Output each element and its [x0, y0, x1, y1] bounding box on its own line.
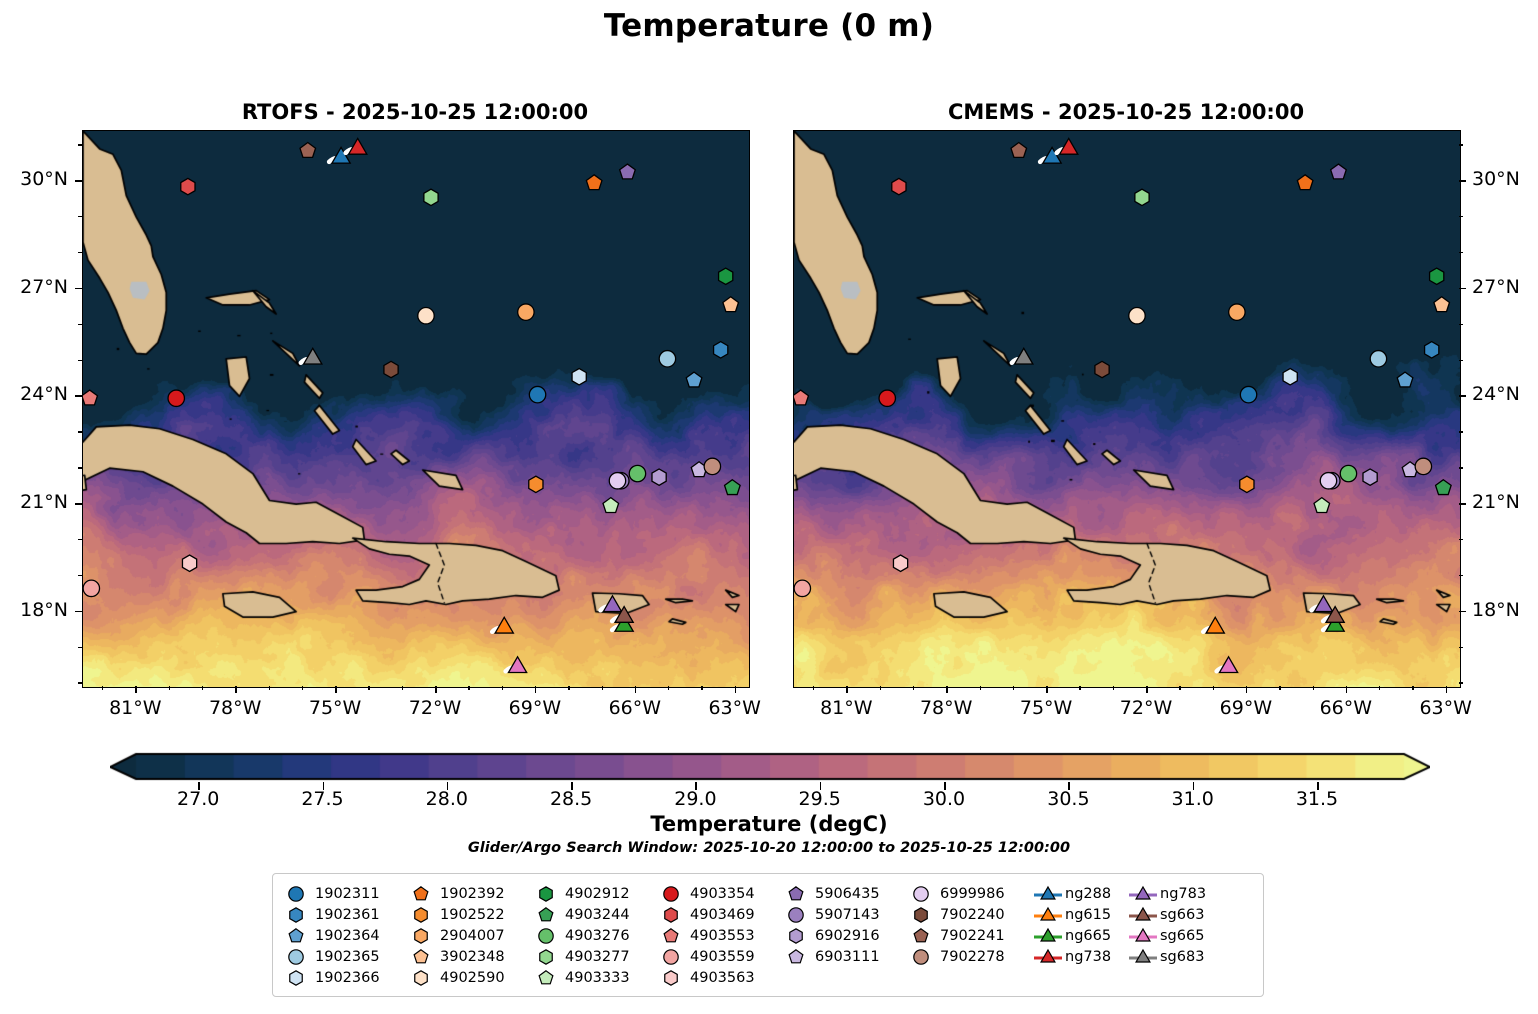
legend-entry-ng615[interactable]: ng615	[1033, 904, 1128, 925]
x-axis-tick	[1113, 686, 1114, 690]
x-axis-label: 72°W	[1106, 697, 1186, 719]
legend-entry-4902590[interactable]: 4902590	[408, 967, 533, 988]
map-marker-1902361[interactable]	[714, 342, 728, 358]
y-axis-label: 18°N	[0, 599, 68, 621]
x-axis-label: 63°W	[1406, 697, 1486, 719]
map-marker-4903333[interactable]	[603, 498, 619, 513]
x-axis-tick	[302, 686, 303, 690]
map-marker-4903244[interactable]	[725, 480, 741, 495]
colorbar-tick-label: 29.0	[650, 788, 740, 810]
map-marker-1902366[interactable]	[572, 369, 586, 385]
legend-entry-label: 4903469	[688, 907, 755, 923]
legend-entry-7902278[interactable]: 7902278	[908, 946, 1033, 967]
x-axis-tick	[813, 686, 814, 690]
legend-entry-label: 6903111	[813, 949, 880, 965]
legend-swatch	[658, 884, 688, 904]
map-marker-1902365[interactable]	[1370, 351, 1386, 367]
map-marker-4903559[interactable]	[83, 580, 99, 596]
legend-marker-6903111	[783, 947, 813, 967]
figure-root: Temperature (0 m) RTOFS - 2025-10-25 12:…	[0, 0, 1538, 1014]
x-axis-tick	[913, 686, 914, 690]
x-axis-label: 69°W	[1206, 697, 1286, 719]
legend-entry-label: 1902311	[313, 886, 380, 902]
x-axis-label: 81°W	[806, 697, 886, 719]
y-axis-tick	[78, 360, 82, 361]
x-axis-tick	[635, 686, 637, 693]
map-marker-1902365[interactable]	[659, 351, 675, 367]
legend-entry-1902522[interactable]: 1902522	[408, 904, 533, 925]
map-marker-4903276[interactable]	[629, 465, 645, 481]
map-marker-4903354[interactable]	[168, 390, 184, 406]
legend-marker-sg663	[1128, 905, 1158, 925]
map-marker-2904007[interactable]	[1229, 304, 1245, 320]
legend-swatch	[533, 926, 563, 946]
legend-swatch	[1128, 926, 1158, 946]
x-axis-tick	[1213, 686, 1214, 690]
legend-marker-sg665	[1128, 926, 1158, 946]
legend-swatch	[408, 905, 438, 925]
glider-track-ng615[interactable]	[1203, 617, 1224, 633]
x-axis-tick	[435, 686, 437, 693]
x-axis-tick	[946, 686, 948, 693]
legend-entry-3902348[interactable]: 3902348	[408, 946, 533, 967]
glider-track-sg665[interactable]	[1217, 657, 1238, 673]
x-axis-label: 78°W	[906, 697, 986, 719]
legend-entry-4903277[interactable]: 4903277	[533, 946, 658, 967]
legend-entry-label: 4903354	[688, 886, 755, 902]
legend-marker-7902240	[908, 905, 938, 925]
x-axis-tick	[668, 686, 669, 690]
x-axis-tick	[1046, 686, 1048, 693]
legend-entry-1902365[interactable]: 1902365	[283, 946, 408, 967]
legend-entry-label: 4903563	[688, 970, 755, 986]
legend-swatch	[533, 884, 563, 904]
legend-swatch	[408, 926, 438, 946]
map-marker-4903553[interactable]	[794, 390, 808, 405]
y-axis-tick	[78, 144, 82, 145]
x-axis-tick	[1313, 686, 1314, 690]
legend-swatch	[908, 905, 938, 925]
y-axis-label: 27°N	[1472, 276, 1538, 298]
x-axis-label: 66°W	[1306, 697, 1386, 719]
legend-swatch	[283, 947, 313, 967]
legend-entry-4903553[interactable]: 4903553	[658, 925, 783, 946]
legend-swatch	[658, 968, 688, 988]
map-marker-1902392[interactable]	[586, 175, 602, 190]
legend-column: 19023921902522290400739023484902590	[408, 883, 533, 988]
legend-swatch	[1033, 884, 1063, 904]
x-axis-tick	[235, 686, 237, 693]
y-axis-tick	[1459, 503, 1466, 505]
legend-entry-label: 1902365	[313, 949, 380, 965]
map-panel-rtofs[interactable]	[82, 130, 750, 688]
legend-entry-6999986[interactable]: 6999986	[908, 883, 1033, 904]
x-axis-label: 75°W	[295, 697, 375, 719]
legend-entry-4903354[interactable]: 4903354	[658, 883, 783, 904]
legend-entry-label: sg663	[1158, 907, 1204, 923]
legend-entry-1902366[interactable]: 1902366	[283, 967, 408, 988]
map-panel-cmems[interactable]	[793, 130, 1461, 688]
y-axis-tick	[1459, 144, 1463, 145]
legend-entry-4903469[interactable]: 4903469	[658, 904, 783, 925]
legend-column: 49029124903244490327649032774903333	[533, 883, 658, 988]
legend-swatch	[408, 947, 438, 967]
legend-swatch	[283, 926, 313, 946]
y-axis-label: 21°N	[0, 491, 68, 513]
x-axis-tick	[202, 686, 203, 690]
y-axis-tick	[1459, 324, 1463, 325]
map-marker-1902311[interactable]	[529, 386, 545, 402]
legend-entry-label: 1902522	[438, 907, 505, 923]
legend-entry-4903559[interactable]: 4903559	[658, 946, 783, 967]
colorbar-tick-label: 30.5	[1023, 788, 1113, 810]
x-axis-tick	[169, 686, 170, 690]
map-marker-4903553[interactable]	[83, 390, 97, 405]
map-marker-4902912[interactable]	[1430, 268, 1444, 284]
x-axis-tick	[468, 686, 469, 690]
legend-entry-sg663[interactable]: sg663	[1128, 904, 1223, 925]
map-marker-7902241[interactable]	[1011, 143, 1027, 158]
y-axis-label: 21°N	[1472, 491, 1538, 513]
colorbar	[110, 752, 1430, 782]
map-marker-4903563[interactable]	[182, 555, 196, 571]
legend-entry-label: 5906435	[813, 886, 880, 902]
colorbar-tick-label: 29.5	[775, 788, 865, 810]
map-marker-1902522[interactable]	[529, 476, 543, 492]
map-marker-4903276[interactable]	[1340, 465, 1356, 481]
map-marker-6999986[interactable]	[1320, 473, 1336, 489]
y-axis-tick	[78, 431, 82, 432]
y-axis-tick	[78, 324, 82, 325]
x-axis-tick	[1246, 686, 1248, 693]
x-axis-tick	[1379, 686, 1380, 690]
legend-marker-7902278	[908, 947, 938, 967]
x-axis-tick	[880, 686, 881, 690]
legend-marker-4903559	[658, 947, 688, 967]
legend-marker-3902348	[408, 947, 438, 967]
map-marker-1902364[interactable]	[1397, 372, 1413, 387]
legend-entry-label: sg683	[1158, 949, 1204, 965]
colorbar-tick-label: 30.0	[899, 788, 989, 810]
legend-marker-4903354	[658, 884, 688, 904]
legend-entry-7902240[interactable]: 7902240	[908, 904, 1033, 925]
x-axis-label: 69°W	[495, 697, 575, 719]
map-marker-7902241[interactable]	[300, 143, 316, 158]
legend-swatch	[783, 947, 813, 967]
x-axis-tick	[1146, 686, 1148, 693]
x-axis-tick	[335, 686, 337, 693]
legend-entry-label: ng288	[1063, 886, 1111, 902]
legend-swatch	[658, 947, 688, 967]
glider-track-ng783[interactable]	[1312, 596, 1333, 612]
legend-marker-4902590	[408, 968, 438, 988]
map-marker-6902916[interactable]	[1363, 469, 1377, 485]
legend-swatch	[533, 947, 563, 967]
map-marker-6999986[interactable]	[609, 473, 625, 489]
y-axis-tick	[1459, 575, 1463, 576]
legend-swatch	[1033, 947, 1063, 967]
map-marker-4903469[interactable]	[181, 178, 195, 194]
glider-track-sg665[interactable]	[506, 657, 527, 673]
legend-entry-label: 6999986	[938, 886, 1005, 902]
map-marker-4903333[interactable]	[1314, 498, 1330, 513]
legend-marker-ng738	[1033, 947, 1063, 967]
legend-column: ng288ng615ng665ng738	[1033, 883, 1128, 988]
glider-track-ng615[interactable]	[492, 617, 513, 633]
legend-entry-label: 4903276	[563, 928, 630, 944]
legend-swatch	[283, 968, 313, 988]
map-marker-4903354[interactable]	[879, 390, 895, 406]
legend-marker-6902916	[783, 926, 813, 946]
legend-entry-label: 7902241	[938, 928, 1005, 944]
legend-swatch	[908, 884, 938, 904]
x-axis-tick	[269, 686, 270, 690]
x-axis-label: 63°W	[695, 697, 775, 719]
legend-entry-label: 4903553	[688, 928, 755, 944]
colorbar-tick-label: 27.0	[153, 788, 243, 810]
y-axis-label: 18°N	[1472, 599, 1538, 621]
map-marker-1902364[interactable]	[686, 372, 702, 387]
x-axis-tick	[1279, 686, 1280, 690]
legend-entry-label: 5907143	[813, 907, 880, 923]
legend-swatch	[1128, 947, 1158, 967]
y-axis-tick	[78, 682, 82, 683]
legend-marker-4903469	[658, 905, 688, 925]
legend-entry-label: 1902366	[313, 970, 380, 986]
map-marker-4902590[interactable]	[1129, 308, 1145, 324]
legend-marker-sg683	[1128, 947, 1158, 967]
legend-swatch	[1128, 884, 1158, 904]
legend-entry-label: 1902392	[438, 886, 505, 902]
x-axis-tick	[402, 686, 403, 690]
legend-swatch	[408, 968, 438, 988]
legend-entry-label: 4902912	[563, 886, 630, 902]
x-axis-label: 78°W	[195, 697, 275, 719]
legend-entry-2904007[interactable]: 2904007	[408, 925, 533, 946]
legend-marker-ng783	[1128, 884, 1158, 904]
legend-entry-4903333[interactable]: 4903333	[533, 967, 658, 988]
legend-marker-4903563	[658, 968, 688, 988]
glider-track-ng738[interactable]	[346, 138, 367, 154]
x-axis-tick	[102, 686, 103, 690]
legend-marker-1902366	[283, 968, 313, 988]
colorbar-tick-label: 28.5	[526, 788, 616, 810]
y-axis-tick	[78, 539, 82, 540]
legend-entry-ng783[interactable]: ng783	[1128, 883, 1223, 904]
y-axis-tick	[1459, 360, 1463, 361]
search-window-note: Glider/Argo Search Window: 2025-10-20 12…	[0, 840, 1538, 856]
map-marker-4903244[interactable]	[1436, 480, 1452, 495]
colorbar-tick-label: 27.5	[278, 788, 368, 810]
map-overlay-cmems	[794, 131, 1460, 687]
legend-entry-1902364[interactable]: 1902364	[283, 925, 408, 946]
map-marker-1902392[interactable]	[1297, 175, 1313, 190]
x-axis-tick	[1079, 686, 1080, 690]
map-marker-3902348[interactable]	[1434, 297, 1450, 312]
legend-column: 6999986790224079022417902278	[908, 883, 1033, 988]
y-axis-tick	[78, 216, 82, 217]
legend-swatch	[533, 968, 563, 988]
figure-legend[interactable]: 1902311190236119023641902365190236619023…	[272, 873, 1264, 997]
legend-entry-4903563[interactable]: 4903563	[658, 967, 783, 988]
map-marker-5906435[interactable]	[620, 164, 636, 179]
map-marker-3902348[interactable]	[723, 297, 739, 312]
map-marker-4903469[interactable]	[892, 178, 906, 194]
glider-track-ng738[interactable]	[1057, 138, 1078, 154]
legend-entry-4902912[interactable]: 4902912	[533, 883, 658, 904]
legend-marker-7902241	[908, 926, 938, 946]
colorbar-tick-label: 31.5	[1272, 788, 1362, 810]
y-axis-label: 27°N	[0, 276, 68, 298]
legend-swatch	[1128, 905, 1158, 925]
legend-entry-sg683[interactable]: sg683	[1128, 946, 1223, 967]
map-marker-1902311[interactable]	[1240, 386, 1256, 402]
y-axis-tick	[1459, 216, 1463, 217]
legend-swatch	[783, 884, 813, 904]
legend-entry-4903276[interactable]: 4903276	[533, 925, 658, 946]
x-axis-tick	[980, 686, 981, 690]
map-marker-1902361[interactable]	[1425, 342, 1439, 358]
legend-marker-1902361	[283, 905, 313, 925]
legend-swatch	[908, 947, 938, 967]
x-axis-tick	[735, 686, 737, 693]
figure-suptitle: Temperature (0 m)	[0, 8, 1538, 44]
legend-marker-4903333	[533, 968, 563, 988]
map-marker-2904007[interactable]	[518, 304, 534, 320]
legend-entry-label: 7902240	[938, 907, 1005, 923]
map-marker-4902590[interactable]	[418, 308, 434, 324]
legend-entry-7902241[interactable]: 7902241	[908, 925, 1033, 946]
legend-entry-ng738[interactable]: ng738	[1033, 946, 1128, 967]
legend-entry-label: 4903559	[688, 949, 755, 965]
y-axis-label: 24°N	[1472, 383, 1538, 405]
legend-entry-1902311[interactable]: 1902311	[283, 883, 408, 904]
glider-track-ng783[interactable]	[601, 596, 622, 612]
y-axis-tick	[1459, 180, 1466, 182]
x-axis-label: 72°W	[395, 697, 475, 719]
x-axis-tick	[1412, 686, 1413, 690]
y-axis-tick	[78, 575, 82, 576]
legend-marker-ng615	[1033, 905, 1063, 925]
legend-marker-ng665	[1033, 926, 1063, 946]
legend-marker-4903277	[533, 947, 563, 967]
legend-entry-label: 4902590	[438, 970, 505, 986]
legend-entry-4903244[interactable]: 4903244	[533, 904, 658, 925]
map-marker-4903277[interactable]	[424, 189, 438, 205]
legend-entry-label: 6902916	[813, 928, 880, 944]
map-marker-7902240[interactable]	[384, 361, 398, 377]
legend-marker-2904007	[408, 926, 438, 946]
map-marker-4903277[interactable]	[1135, 189, 1149, 205]
legend-entry-ng665[interactable]: ng665	[1033, 925, 1128, 946]
map-marker-5906435[interactable]	[1331, 164, 1347, 179]
legend-entry-label: 1902364	[313, 928, 380, 944]
y-axis-tick	[1459, 611, 1466, 613]
y-axis-tick	[78, 467, 82, 468]
y-axis-tick	[75, 395, 82, 397]
y-axis-tick	[78, 252, 82, 253]
legend-entry-label: ng738	[1063, 949, 1111, 965]
x-axis-tick	[602, 686, 603, 690]
legend-marker-1902392	[408, 884, 438, 904]
y-axis-tick	[1459, 395, 1466, 397]
legend-swatch	[533, 905, 563, 925]
map-marker-1902366[interactable]	[1283, 369, 1297, 385]
legend-entry-5906435[interactable]: 5906435	[783, 883, 908, 904]
map-marker-6902916[interactable]	[652, 469, 666, 485]
y-axis-tick	[78, 647, 82, 648]
colorbar-label: Temperature (degC)	[0, 812, 1538, 836]
legend-marker-4903276	[533, 926, 563, 946]
legend-marker-1902522	[408, 905, 438, 925]
glider-track-sg683[interactable]	[1012, 348, 1033, 364]
legend-entry-sg665[interactable]: sg665	[1128, 925, 1223, 946]
legend-column: ng783sg663sg665sg683	[1128, 883, 1223, 988]
map-marker-7902240[interactable]	[1095, 361, 1109, 377]
colorbar-tick-label: 28.0	[402, 788, 492, 810]
legend-swatch	[783, 926, 813, 946]
legend-entry-label: 7902278	[938, 949, 1005, 965]
legend-entry-6902916[interactable]: 6902916	[783, 925, 908, 946]
legend-column: 19023111902361190236419023651902366	[283, 883, 408, 988]
glider-track-sg683[interactable]	[301, 348, 322, 364]
map-marker-7902278[interactable]	[704, 458, 720, 474]
map-marker-4903563[interactable]	[893, 555, 907, 571]
panel-title-cmems: CMEMS - 2025-10-25 12:00:00	[793, 100, 1459, 124]
y-axis-tick	[1459, 647, 1463, 648]
map-marker-1902522[interactable]	[1240, 476, 1254, 492]
y-axis-tick	[75, 180, 82, 182]
legend-swatch	[658, 926, 688, 946]
legend-entry-6903111[interactable]: 6903111	[783, 946, 908, 967]
x-axis-tick	[135, 686, 137, 693]
legend-column: 49033544903469490355349035594903563	[658, 883, 783, 988]
x-axis-tick	[1446, 686, 1448, 693]
legend-marker-1902365	[283, 947, 313, 967]
x-axis-tick	[1179, 686, 1180, 690]
legend-marker-6999986	[908, 884, 938, 904]
legend-swatch	[1033, 905, 1063, 925]
x-axis-tick	[846, 686, 848, 693]
map-marker-7902278[interactable]	[1415, 458, 1431, 474]
y-axis-tick	[1459, 288, 1466, 290]
legend-entry-5907143[interactable]: 5907143	[783, 904, 908, 925]
y-axis-tick	[75, 611, 82, 613]
legend-swatch	[283, 905, 313, 925]
y-axis-label: 30°N	[0, 168, 68, 190]
legend-entry-1902392[interactable]: 1902392	[408, 883, 533, 904]
legend-marker-5907143	[783, 905, 813, 925]
map-marker-4902912[interactable]	[719, 268, 733, 284]
map-marker-4903559[interactable]	[794, 580, 810, 596]
x-axis-tick	[701, 686, 702, 690]
legend-entry-ng288[interactable]: ng288	[1033, 883, 1128, 904]
legend-swatch	[408, 884, 438, 904]
legend-swatch	[658, 905, 688, 925]
legend-entry-1902361[interactable]: 1902361	[283, 904, 408, 925]
legend-entry-label: 1902361	[313, 907, 380, 923]
y-axis-label: 30°N	[1472, 168, 1538, 190]
y-axis-tick	[75, 288, 82, 290]
y-axis-tick	[1459, 539, 1463, 540]
legend-entry-label: 4903244	[563, 907, 630, 923]
x-axis-label: 81°W	[95, 697, 175, 719]
map-overlay-rtofs	[83, 131, 749, 687]
legend-swatch	[783, 905, 813, 925]
x-axis-tick	[502, 686, 503, 690]
legend-marker-1902311	[283, 884, 313, 904]
colorbar-tick-label: 31.0	[1148, 788, 1238, 810]
